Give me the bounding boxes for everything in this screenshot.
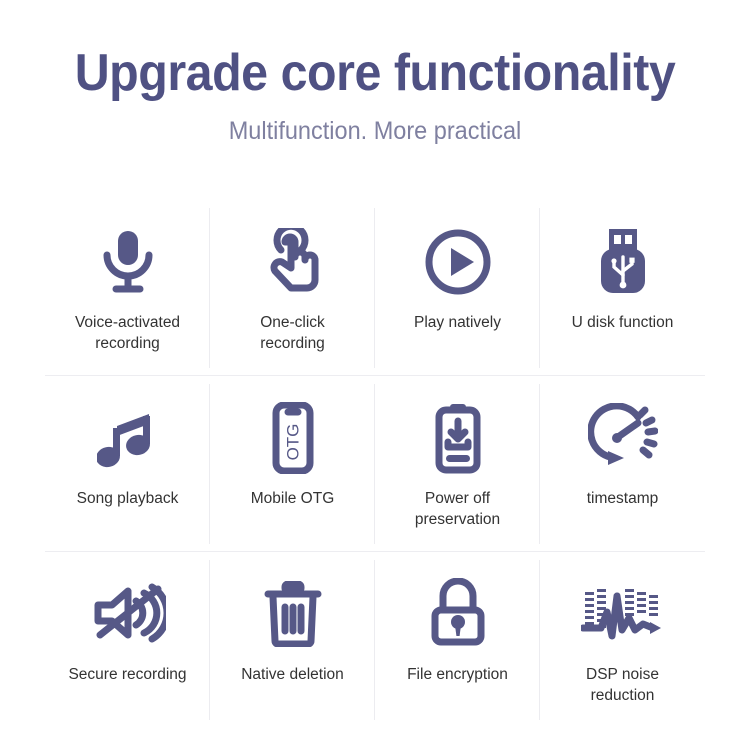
feature-cell-voice-activated-recording[interactable]: Voice-activatedrecording <box>45 200 210 376</box>
padlock-icon <box>428 570 488 658</box>
trash-can-icon <box>264 570 322 658</box>
feature-cell-mobile-otg[interactable]: OTG Mobile OTG <box>210 376 375 552</box>
feature-cell-file-encryption[interactable]: File encryption <box>375 552 540 728</box>
feature-cell-dsp-noise-reduction[interactable]: DSP noisereduction <box>540 552 705 728</box>
usb-flash-drive-icon <box>595 218 651 306</box>
feature-cell-one-click-recording[interactable]: One-clickrecording <box>210 200 375 376</box>
speedometer-icon <box>588 394 658 482</box>
play-circle-icon <box>424 218 492 306</box>
feature-grid: Voice-activatedrecording One-clickrecord… <box>45 200 705 728</box>
feature-label: timestamp <box>587 488 659 509</box>
feature-label: Voice-activatedrecording <box>75 312 180 354</box>
feature-cell-song-playback[interactable]: Song playback <box>45 376 210 552</box>
page-header: Upgrade core functionality Multifunction… <box>0 0 750 146</box>
feature-label: U disk function <box>572 312 674 333</box>
feature-cell-power-off-preservation[interactable]: Power offpreservation <box>375 376 540 552</box>
feature-cell-play-natively[interactable]: Play natively <box>375 200 540 376</box>
phone-otg-icon: OTG <box>269 394 317 482</box>
page-title: Upgrade core functionality <box>26 44 724 102</box>
feature-label: Native deletion <box>241 664 344 685</box>
feature-cell-native-deletion[interactable]: Native deletion <box>210 552 375 728</box>
speaker-muted-icon <box>90 570 166 658</box>
feature-label: Secure recording <box>68 664 186 685</box>
feature-cell-u-disk-function[interactable]: U disk function <box>540 200 705 376</box>
tap-gesture-icon <box>260 218 326 306</box>
feature-cell-secure-recording[interactable]: Secure recording <box>45 552 210 728</box>
feature-label: One-clickrecording <box>260 312 325 354</box>
feature-label: Power offpreservation <box>415 488 500 530</box>
feature-cell-timestamp[interactable]: timestamp <box>540 376 705 552</box>
feature-label: Play natively <box>414 312 501 333</box>
otg-badge-text: OTG <box>283 424 302 461</box>
feature-label: Mobile OTG <box>251 488 335 509</box>
battery-save-icon <box>433 394 483 482</box>
page-subtitle: Multifunction. More practical <box>23 116 728 146</box>
feature-label: Song playback <box>77 488 179 509</box>
music-note-icon <box>97 394 159 482</box>
feature-label: File encryption <box>407 664 508 685</box>
promo-feature-page: Upgrade core functionality Multifunction… <box>0 0 750 750</box>
equalizer-wave-icon <box>581 570 665 658</box>
feature-label: DSP noisereduction <box>586 664 659 706</box>
microphone-icon <box>97 218 159 306</box>
